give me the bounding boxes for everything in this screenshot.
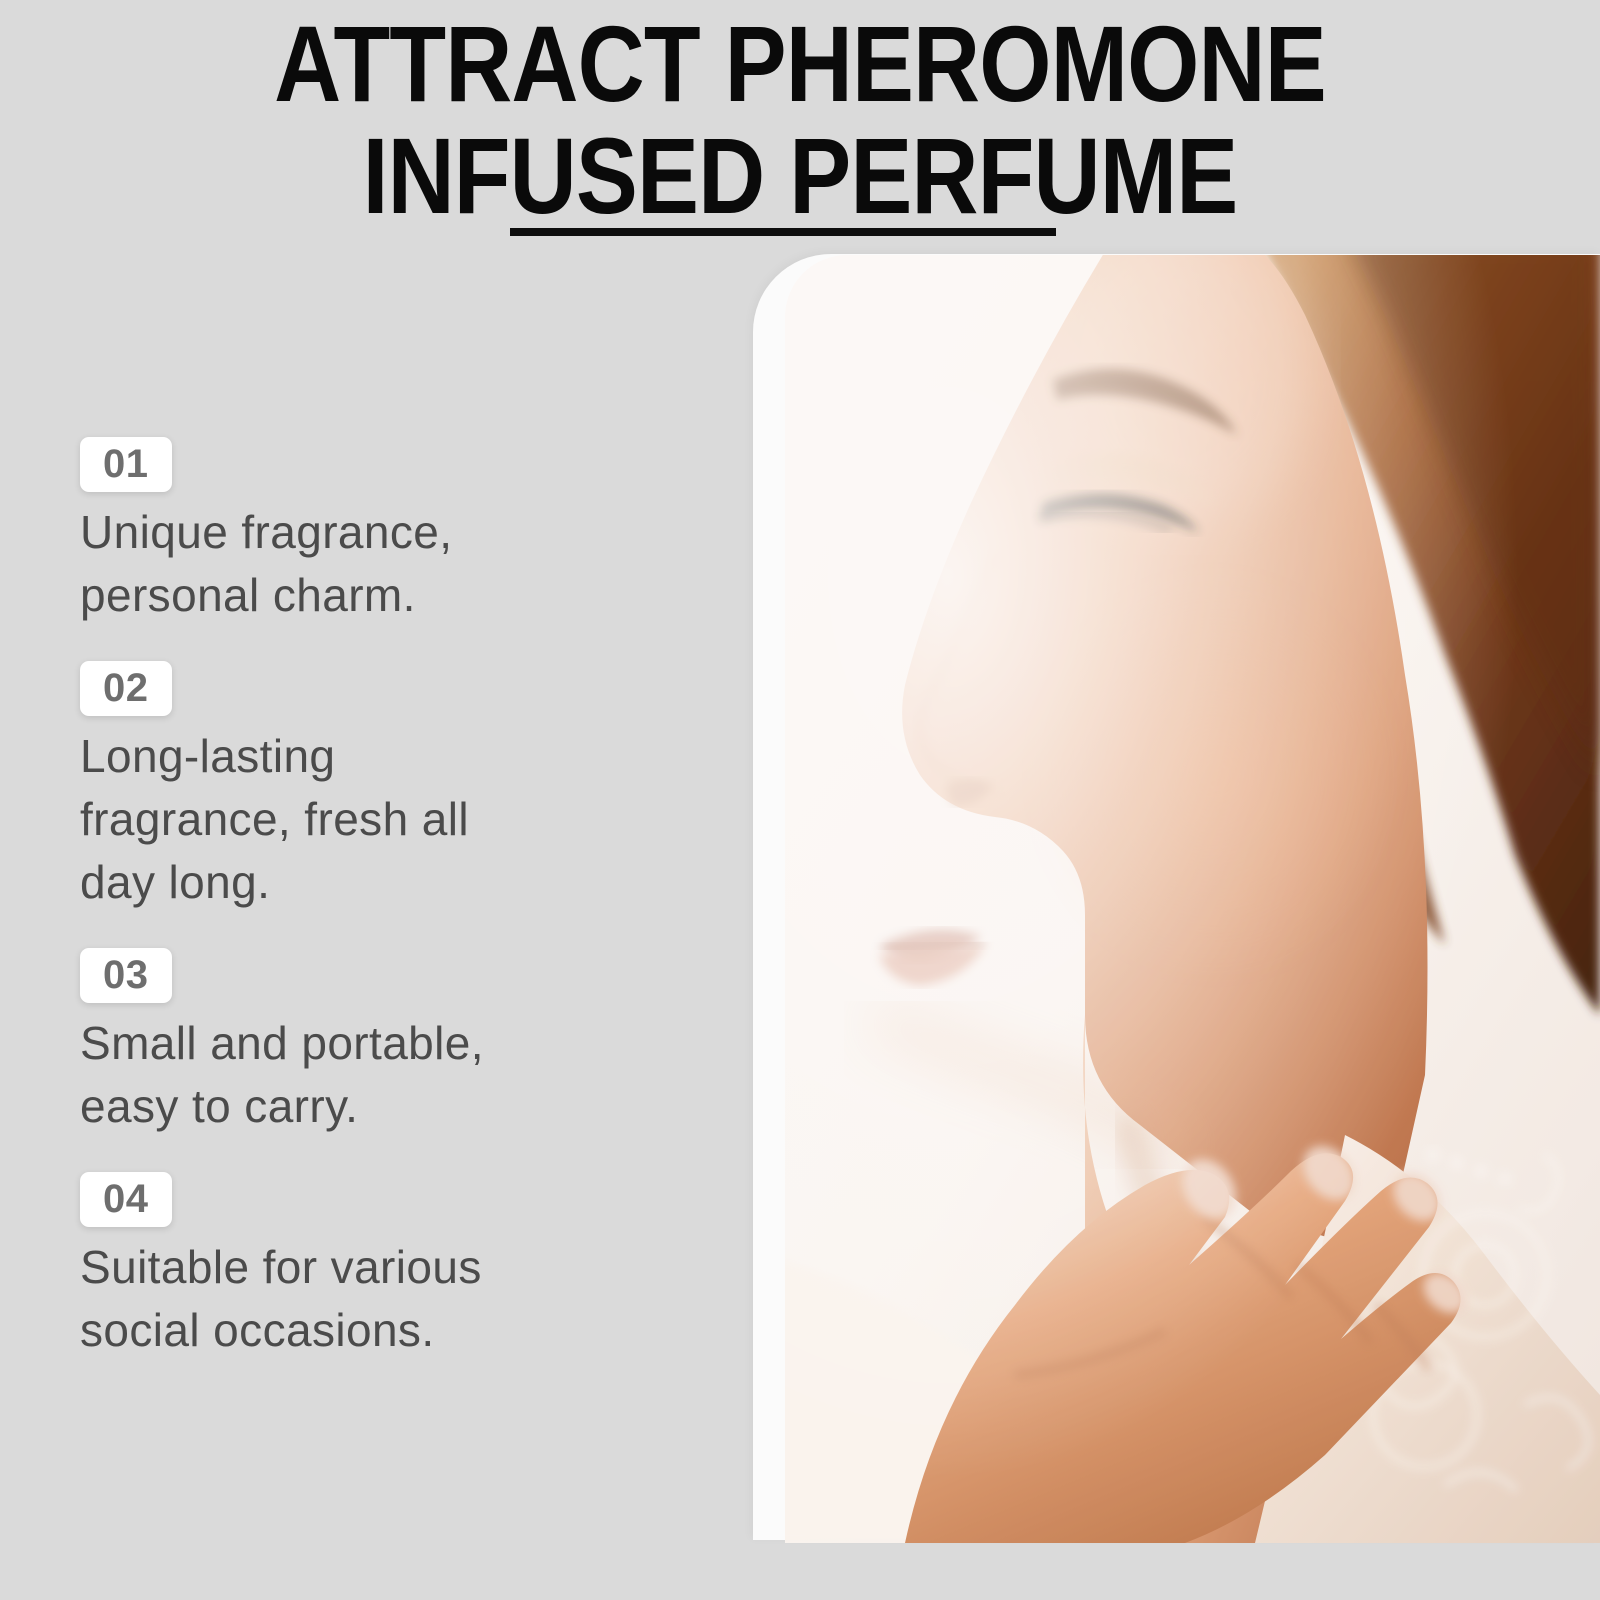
feature-description: Small and portable, easy to carry. — [80, 1012, 550, 1138]
title-underline — [510, 228, 1056, 236]
feature-item-04: 04 Suitable for various social occasions… — [80, 1172, 600, 1362]
feature-list: 01 Unique fragrance, personal charm. 02 … — [80, 437, 600, 1362]
feature-description: Unique fragrance, personal charm. — [80, 501, 550, 627]
feature-item-03: 03 Small and portable, easy to carry. — [80, 948, 600, 1138]
model-photo — [785, 255, 1600, 1543]
poster-canvas: ATTRACT PHEROMONE INFUSED PERFUME 01 Uni… — [0, 0, 1600, 1600]
feature-number-badge: 03 — [80, 948, 172, 1003]
feature-item-01: 01 Unique fragrance, personal charm. — [80, 437, 600, 627]
feature-item-02: 02 Long-lasting fragrance, fresh all day… — [80, 661, 600, 914]
feature-number-badge: 04 — [80, 1172, 172, 1227]
title-line-1: ATTRACT PHEROMONE — [112, 8, 1488, 120]
feature-description: Suitable for various social occasions. — [80, 1236, 550, 1362]
title-line-2: INFUSED PERFUME — [112, 120, 1488, 232]
feature-number-badge: 02 — [80, 661, 172, 716]
page-title: ATTRACT PHEROMONE INFUSED PERFUME — [0, 8, 1600, 232]
feature-description: Long-lasting fragrance, fresh all day lo… — [80, 725, 550, 914]
feature-number-badge: 01 — [80, 437, 172, 492]
